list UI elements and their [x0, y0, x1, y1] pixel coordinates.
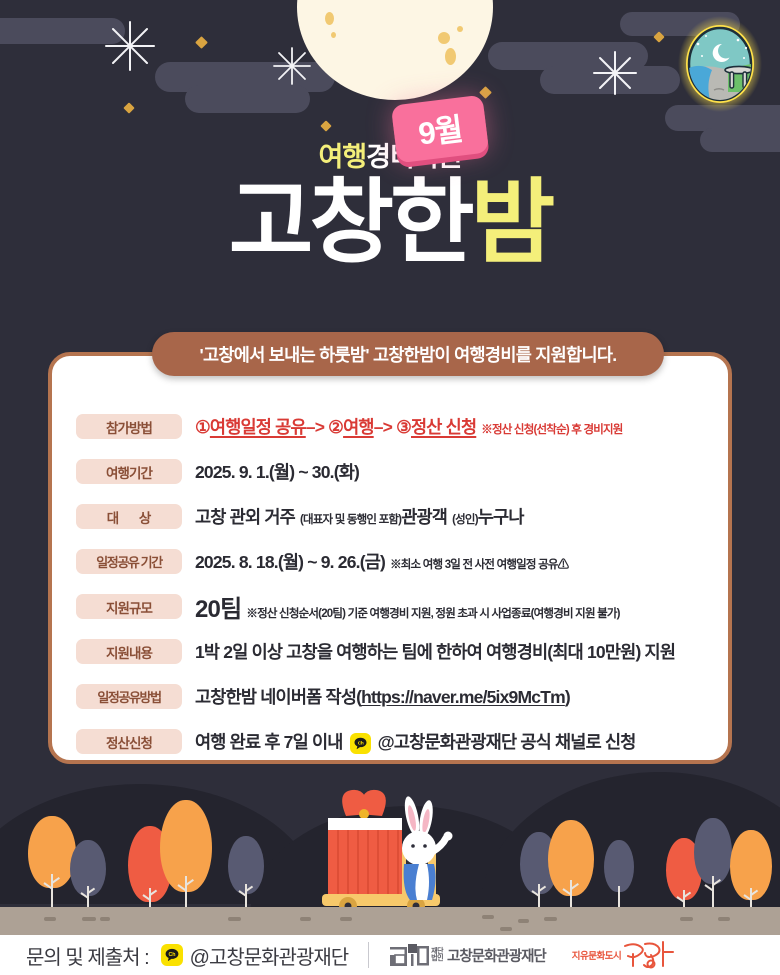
foundation-prefix-line1: 재단	[431, 948, 443, 955]
info-rows: 참가방법 ①여행일정 공유 –> ②여행 –> ③정산 신청※정산 신청(선착순…	[52, 404, 728, 764]
sparkle-star-icon	[592, 50, 638, 101]
row-label-chip: 대 상	[76, 504, 182, 529]
row-value-text: 20팀	[195, 589, 241, 624]
row-note: ※정산 신청(선착순) 후 경비지원	[481, 421, 622, 437]
foundation-logo: 재단 법인 고창문화관광재단	[389, 942, 546, 968]
row-label-chip: 정산신청	[76, 729, 182, 754]
pebble	[544, 917, 557, 921]
row-value: 여행 완료 후 7일 이내 Ch @고창문화관광재단 공식 채널로 신청	[195, 729, 636, 754]
row-segment: –> ②	[306, 417, 343, 438]
foundation-prefix: 재단 법인	[431, 948, 443, 963]
row-segment: –> ③	[374, 417, 411, 438]
foundation-prefix-line2: 법인	[431, 955, 443, 962]
gift-truck-with-rabbit-illustration	[320, 786, 470, 910]
pebble	[300, 917, 311, 921]
row-segment: (성인)	[452, 511, 478, 527]
moon-crater	[325, 12, 334, 25]
tree-foliage	[694, 818, 732, 884]
poster-subtitle: 여행경비지원	[0, 144, 780, 171]
foundation-mark-icon	[389, 942, 431, 968]
naver-form-link[interactable]: https://naver.me/5ix9McTm	[361, 687, 565, 708]
pebble	[228, 917, 241, 921]
row-value: 고창한밤 네이버폼 작성(https://naver.me/5ix9McTm)	[195, 684, 570, 709]
sparkle-star-icon	[104, 20, 156, 77]
info-row: 일정공유 기간 2025. 8. 18.(월) ~ 9. 26.(금)※최소 여…	[66, 539, 714, 584]
svg-text:Ch: Ch	[357, 741, 363, 747]
row-value-text: 2025. 9. 1.(월) ~ 30.(화)	[195, 459, 359, 484]
info-row: 일정공유방법 고창한밤 네이버폼 작성(https://naver.me/5ix…	[66, 674, 714, 719]
city-logo-calligraphy-icon	[621, 940, 679, 970]
row-segment: 여행일정 공유	[210, 414, 306, 439]
row-label-chip: 지원규모	[76, 594, 182, 619]
poster-title-block: 9월 여행경비지원 고창한밤	[0, 96, 780, 269]
row-value: 20팀※정산 신청순서(20팀) 기준 여행경비 지원, 정원 초과 시 사업종…	[195, 589, 620, 624]
poster-main-title: 고창한밤	[0, 177, 780, 269]
row-note: ※정산 신청순서(20팀) 기준 여행경비 지원, 정원 초과 시 사업종료(여…	[246, 605, 619, 621]
row-value: 1박 2일 이상 고창을 여행하는 팀에 한하여 여행경비(최대 10만원) 지…	[195, 639, 675, 664]
gochang-city-logo: 지유문화도시	[572, 940, 679, 970]
tree-foliage	[604, 840, 634, 892]
moon-crater	[331, 32, 336, 38]
pebble	[718, 917, 730, 921]
sparkle-star-icon	[272, 46, 312, 91]
moon-crater	[445, 48, 456, 65]
info-row: 지원규모 20팀※정산 신청순서(20팀) 기준 여행경비 지원, 정원 초과 …	[66, 584, 714, 629]
ground-strip	[0, 907, 780, 935]
night-landscape-illustration	[0, 770, 780, 935]
info-row: 대 상 고창 관외 거주(대표자 및 동행인 포함) 관광객(성인) 누구나	[66, 494, 714, 539]
pebble	[44, 917, 56, 921]
tree-trunk	[712, 876, 714, 910]
subtitle-yellow-part: 여행	[318, 142, 366, 172]
footer-divider	[368, 942, 369, 968]
info-row: 참가방법 ①여행일정 공유 –> ②여행 –> ③정산 신청※정산 신청(선착순…	[66, 404, 714, 449]
row-value-text: 1박 2일 이상 고창을 여행하는 팀에 한하여 여행경비(최대 10만원) 지…	[195, 639, 675, 664]
info-row: 여행기간 2025. 9. 1.(월) ~ 30.(화)	[66, 449, 714, 494]
pebble	[340, 917, 352, 921]
kakao-channel-icon[interactable]: Ch	[350, 733, 371, 754]
row-note: ※최소 여행 3일 전 사전 여행일정 공유⚠	[390, 556, 568, 572]
diamond-sparkle-icon	[195, 36, 208, 49]
row-value-text: )	[565, 687, 570, 708]
info-row: 정산신청 여행 완료 후 7일 이내 Ch @고창문화관광재단 공식 채널로 신…	[66, 719, 714, 764]
pebble	[82, 917, 96, 921]
row-segment: 고창 관외 거주	[195, 504, 295, 529]
pebble	[482, 915, 494, 919]
row-label-chip: 여행기간	[76, 459, 182, 484]
svg-text:Ch: Ch	[168, 952, 175, 958]
row-value-text: 여행 완료 후 7일 이내	[195, 729, 343, 754]
row-segment: 여행	[343, 414, 374, 439]
row-label-chip: 지원내용	[76, 639, 182, 664]
row-segment: 관광객	[401, 504, 447, 529]
footer-contact-label: 문의 및 제출처 :	[26, 941, 149, 970]
row-label-chip: 참가방법	[76, 414, 182, 439]
row-segment: 정산 신청	[411, 414, 476, 439]
pebble	[500, 927, 512, 931]
row-value-text: @고창문화관광재단 공식 채널로 신청	[378, 729, 636, 754]
month-badge: 9월	[391, 95, 489, 164]
row-value: 2025. 9. 1.(월) ~ 30.(화)	[195, 459, 359, 484]
row-segment: ①	[195, 417, 210, 438]
footer-bar: 문의 및 제출처 : Ch @고창문화관광재단	[0, 935, 780, 975]
row-segment: 누구나	[478, 504, 524, 529]
pebble	[680, 917, 693, 921]
tree-trunk	[185, 876, 187, 910]
row-value-text: 2025. 8. 18.(월) ~ 9. 26.(금)	[195, 549, 385, 574]
row-label-chip: 일정공유방법	[76, 684, 182, 709]
row-value: 2025. 8. 18.(월) ~ 9. 26.(금)※최소 여행 3일 전 사…	[195, 549, 568, 574]
info-row: 지원내용 1박 2일 이상 고창을 여행하는 팀에 한하여 여행경비(최대 10…	[66, 629, 714, 674]
row-value-text: 고창한밤 네이버폼 작성(	[195, 684, 361, 709]
row-label-chip: 일정공유 기간	[76, 549, 182, 574]
foundation-name: 고창문화관광재단	[447, 945, 546, 966]
row-value: 고창 관외 거주(대표자 및 동행인 포함) 관광객(성인) 누구나	[195, 504, 524, 529]
row-value: ①여행일정 공유 –> ②여행 –> ③정산 신청※정산 신청(선착순) 후 경…	[195, 414, 623, 439]
moon-crater	[438, 32, 450, 44]
poster-root: 9월 여행경비지원 고창한밤 참가방법 ①여행일정 공유 –> ②여행 –> ③…	[0, 0, 780, 975]
tree-trunk	[570, 880, 572, 910]
pebble	[518, 919, 529, 923]
moon-crater	[457, 26, 463, 32]
main-title-white-part: 고창한	[229, 172, 471, 274]
city-logo-tagline: 지유문화도시	[572, 948, 621, 962]
headline-ribbon: '고창에서 보내는 하룻밤' 고창한밤이 여행경비를 지원합니다.	[152, 332, 664, 376]
row-segment: (대표자 및 동행인 포함)	[300, 511, 401, 527]
tree-trunk	[51, 874, 53, 908]
main-title-yellow-part: 밤	[471, 172, 552, 274]
footer-kakao-channel-name[interactable]: @고창문화관광재단	[190, 941, 349, 970]
pebble	[100, 917, 110, 921]
info-card: 참가방법 ①여행일정 공유 –> ②여행 –> ③정산 신청※정산 신청(선착순…	[48, 352, 732, 764]
month-badge-label: 9월	[415, 103, 464, 153]
kakao-channel-icon[interactable]: Ch	[161, 944, 183, 966]
headline-ribbon-text: '고창에서 보내는 하룻밤' 고창한밤이 여행경비를 지원합니다.	[200, 342, 617, 367]
